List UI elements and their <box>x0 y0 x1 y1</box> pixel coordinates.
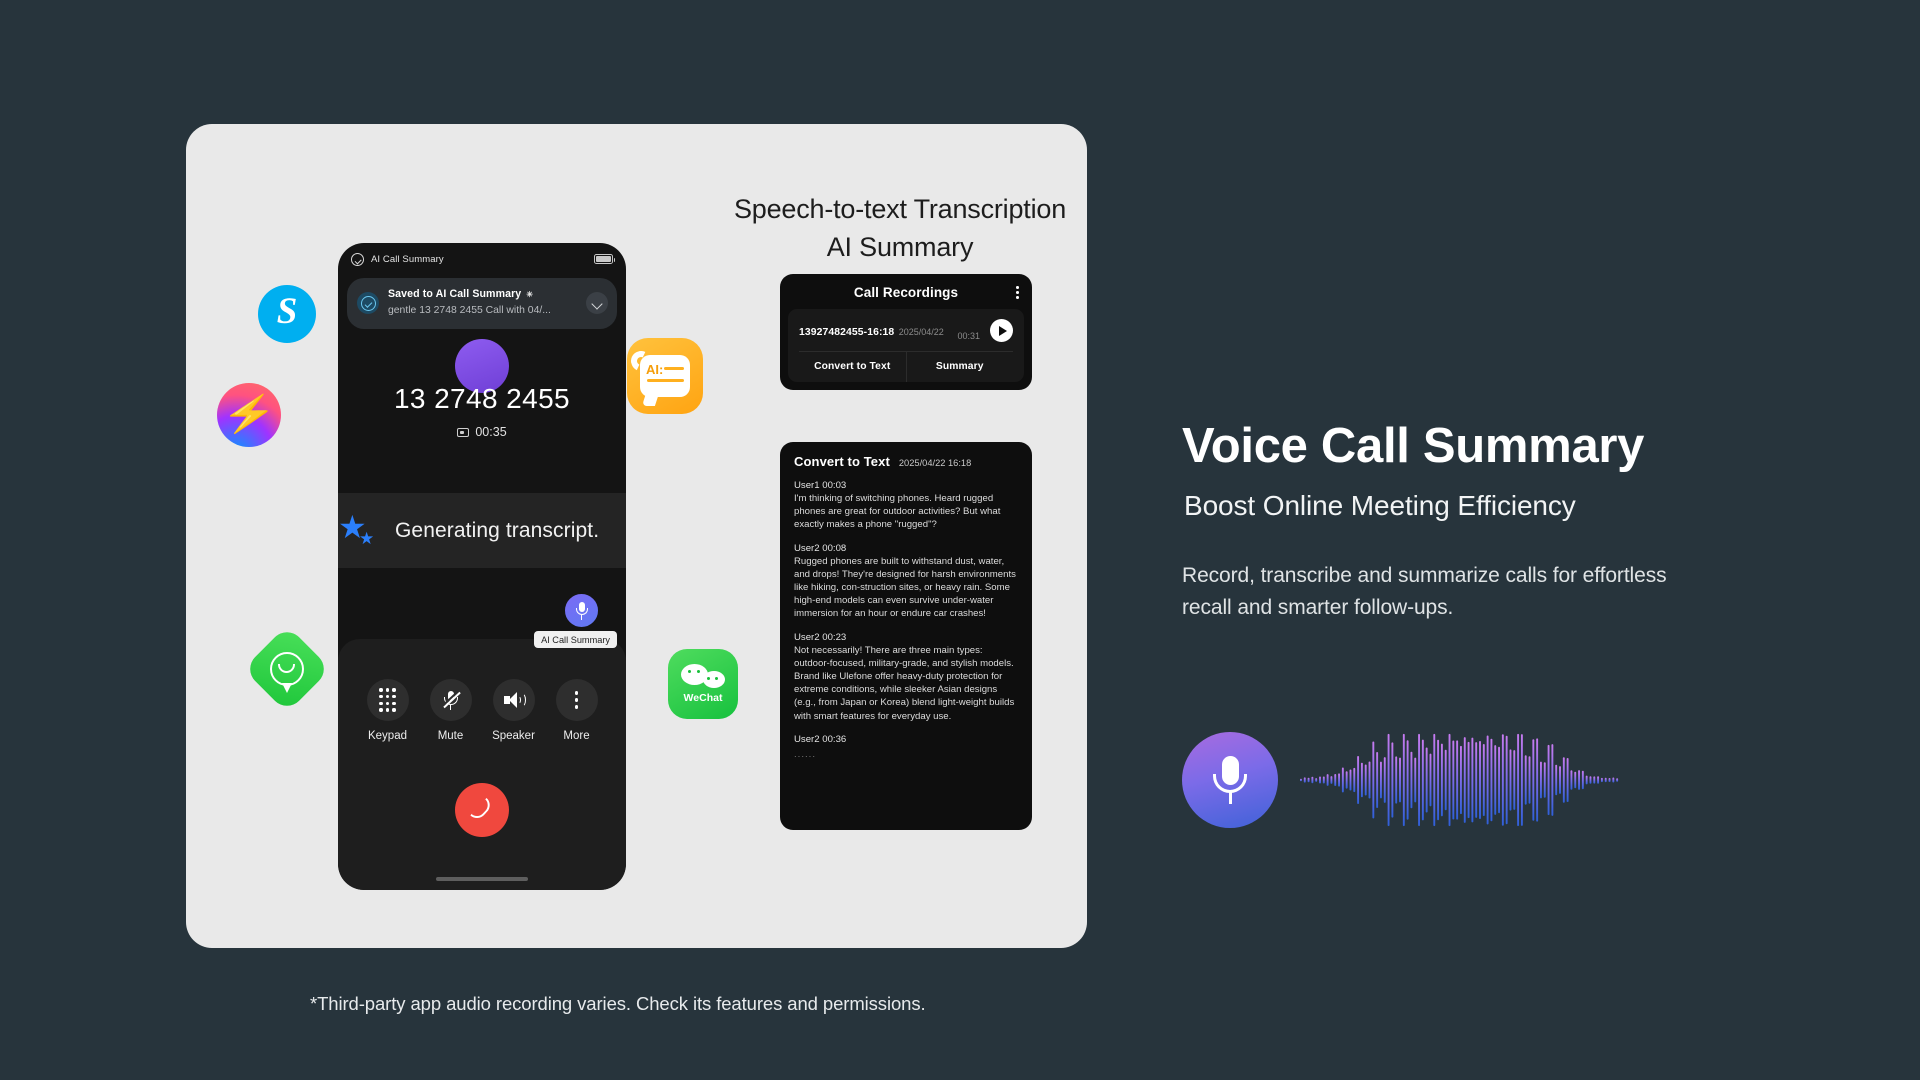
transcript-block: User2 00:08 Rugged phones are built to w… <box>794 543 1018 621</box>
keypad-button[interactable]: Keypad <box>359 679 417 742</box>
transcript-block: User2 00:23 Not necessarily! There are t… <box>794 632 1018 723</box>
recording-indicator-icon <box>457 428 469 437</box>
microphone-off-icon <box>443 690 459 710</box>
call-recordings-header: Call Recordings <box>780 285 1032 309</box>
call-recordings-card: Call Recordings 13927482455-16:18 2025/0… <box>780 274 1032 390</box>
recording-item-row: 13927482455-16:18 2025/04/22 00:31 <box>799 319 1013 342</box>
keypad-label: Keypad <box>359 730 417 742</box>
speaker-icon <box>504 692 524 708</box>
transcript-speaker: User2 00:36 <box>794 734 1018 745</box>
check-circle-icon <box>351 253 364 266</box>
generating-transcript-toast: ★★ Generating transcript. <box>338 493 626 568</box>
speaker-label: Speaker <box>485 730 543 742</box>
transcript-card: Convert to Text 2025/04/22 16:18 User1 0… <box>780 442 1032 830</box>
call-controls-sheet: Keypad Mute Spea <box>338 639 626 890</box>
mute-button-circle <box>430 679 472 721</box>
messenger-icon: ⚡ <box>217 383 281 447</box>
more-label: More <box>548 730 606 742</box>
battery-icon <box>594 254 613 264</box>
home-indicator <box>436 877 528 881</box>
phone-status-bar: AI Call Summary <box>338 243 626 275</box>
phone-mockup: AI Call Summary Saved to AI Call Summary… <box>338 243 626 890</box>
recording-duration: 00:31 <box>957 331 980 342</box>
call-number: 13 2748 2455 <box>338 383 626 415</box>
summary-button[interactable]: Summary <box>906 352 1014 382</box>
transcript-date: 2025/04/22 16:18 <box>899 458 971 468</box>
transcript-speaker: User2 00:23 <box>794 632 1018 643</box>
notification-subtitle: gentle 13 2748 2455 Call with 04/... <box>388 305 551 316</box>
call-controls-row: Keypad Mute Spea <box>338 639 626 742</box>
transcript-title: Convert to Text <box>794 454 890 469</box>
convert-to-text-button[interactable]: Convert to Text <box>799 352 906 382</box>
microphone-icon <box>575 602 588 620</box>
transcript-message: Not necessarily! There are three main ty… <box>794 644 1018 723</box>
page-body-text: Record, transcribe and summarize calls f… <box>1182 560 1682 624</box>
call-recordings-title: Call Recordings <box>854 285 958 300</box>
recording-item[interactable]: 13927482455-16:18 2025/04/22 00:31 Conve… <box>788 309 1024 382</box>
recording-meta: 13927482455-16:18 2025/04/22 <box>799 322 957 340</box>
transcript-header: Convert to Text 2025/04/22 16:18 <box>794 454 1018 469</box>
mute-button[interactable]: Mute <box>422 679 480 742</box>
microphone-icon <box>1213 756 1247 804</box>
sparkle-icon: ✳ <box>526 290 533 299</box>
footnote: *Third-party app audio recording varies.… <box>310 993 926 1015</box>
page-subtitle: Boost Online Meeting Efficiency <box>1184 490 1576 522</box>
ai-summary-tooltip: AI Call Summary <box>534 631 617 648</box>
more-vertical-icon <box>575 691 579 708</box>
wechat-label: WeChat <box>684 692 723 704</box>
transcript-message: I'm thinking of switching phones. Heard … <box>794 492 1018 532</box>
keypad-icon <box>379 688 396 711</box>
more-button-circle <box>556 679 598 721</box>
ai-summary-mic-button[interactable] <box>563 592 600 629</box>
end-call-icon <box>470 798 494 822</box>
speech-to-text-heading: Speech-to-text Transcription AI Summary <box>700 190 1100 266</box>
keypad-button-circle <box>367 679 409 721</box>
notification-title-row: Saved to AI Call Summary ✳ <box>388 288 577 300</box>
heading-line-1: Speech-to-text Transcription <box>700 190 1100 228</box>
play-icon[interactable] <box>990 319 1013 342</box>
ai-sparkle-stars-icon: ★★ <box>338 511 382 551</box>
mute-label: Mute <box>422 730 480 742</box>
transcript-block: User1 00:03 I'm thinking of switching ph… <box>794 480 1018 532</box>
toast-text: Generating transcript. <box>395 519 599 543</box>
recording-name: 13927482455-16:18 <box>799 327 894 338</box>
end-call-button[interactable] <box>455 783 509 837</box>
call-timer-value: 00:35 <box>475 425 506 439</box>
recording-date: 2025/04/22 <box>899 327 944 337</box>
promo-page: Speech-to-text Transcription AI Summary … <box>0 0 1920 1080</box>
audio-waveform-icon <box>1300 732 1620 828</box>
ai-call-summary-icon: AI: <box>627 338 703 414</box>
voice-mic-badge <box>1182 732 1278 828</box>
notification-text: Saved to AI Call Summary ✳ gentle 13 274… <box>388 288 577 318</box>
transcript-ellipsis: ...... <box>794 749 1018 760</box>
status-bar-title: AI Call Summary <box>371 254 444 265</box>
wechat-bubbles-icon <box>681 664 725 690</box>
transcript-message: Rugged phones are built to withstand dus… <box>794 555 1018 621</box>
wechat-icon: WeChat <box>668 649 738 719</box>
transcript-block: User2 00:36 ...... <box>794 734 1018 760</box>
ai-check-badge-icon <box>357 292 379 314</box>
heading-line-2: AI Summary <box>700 228 1100 266</box>
more-button[interactable]: More <box>548 679 606 742</box>
ai-label: AI: <box>646 362 663 377</box>
page-title: Voice Call Summary <box>1182 418 1644 474</box>
skype-icon: S <box>258 285 316 343</box>
ai-summary-notification[interactable]: Saved to AI Call Summary ✳ gentle 13 274… <box>347 278 617 329</box>
transcript-speaker: User1 00:03 <box>794 480 1018 491</box>
call-timer: 00:35 <box>338 425 626 439</box>
notification-title: Saved to AI Call Summary <box>388 288 521 300</box>
recording-actions: Convert to Text Summary <box>799 351 1013 382</box>
chevron-down-icon[interactable] <box>586 292 608 314</box>
speaker-button-circle <box>493 679 535 721</box>
transcript-speaker: User2 00:08 <box>794 543 1018 554</box>
more-vertical-icon[interactable] <box>1016 286 1019 299</box>
speaker-button[interactable]: Speaker <box>485 679 543 742</box>
